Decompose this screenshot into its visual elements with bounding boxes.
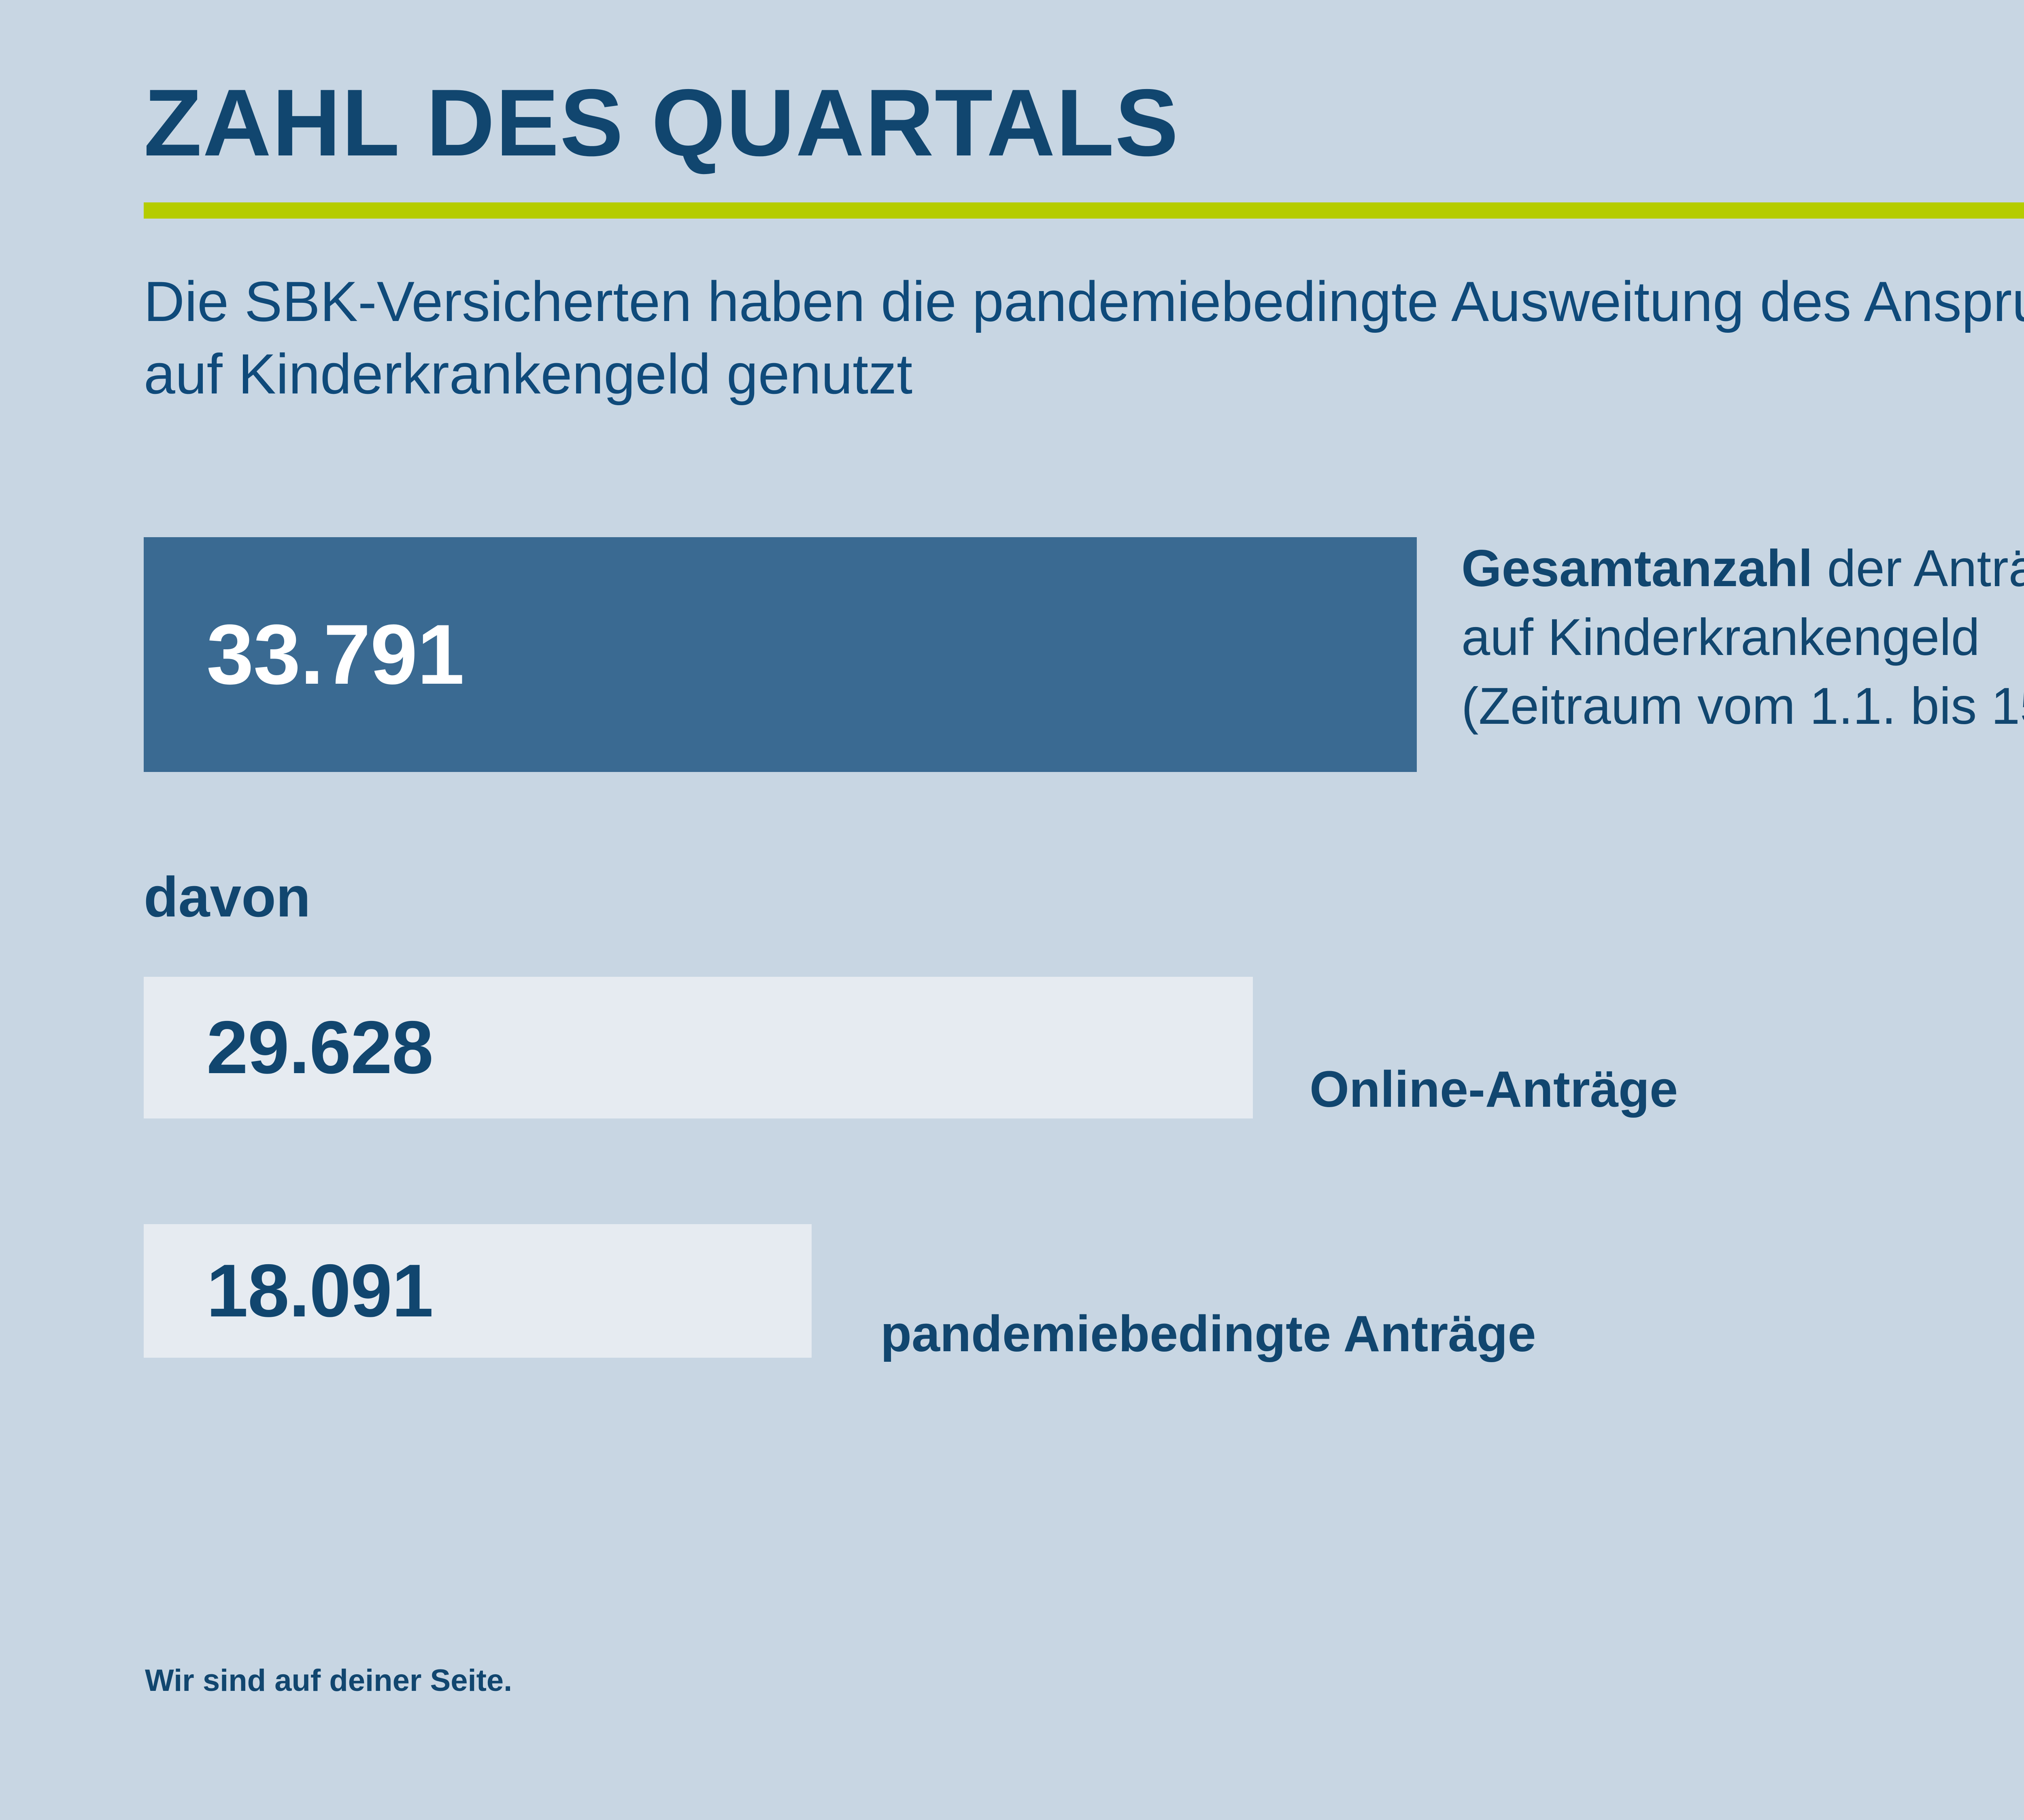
infographic-canvas: ZAHL DES QUARTALS Die SBK-Versicherten h… bbox=[0, 0, 2024, 1820]
title-underline-rule bbox=[144, 202, 2024, 219]
davon-label: davon bbox=[144, 864, 310, 930]
bar-pandemic-label: pandemiebedingte Anträge bbox=[880, 1304, 1536, 1363]
bar-total-label-strong: Gesamtanzahl bbox=[1461, 540, 1813, 597]
page-title: ZAHL DES QUARTALS bbox=[144, 75, 1179, 170]
bar-total-label-line-3: (Zeitraum vom 1.1. bis 15.5.21) bbox=[1461, 672, 2024, 741]
brand-tagline: Wir sind auf deiner Seite. bbox=[145, 1663, 512, 1698]
bar-total-label-line-1: Gesamtanzahl der Anträge bbox=[1461, 534, 2024, 603]
subtitle-line-2: auf Kinderkrankengeld genutzt bbox=[144, 338, 2024, 410]
bar-total-value: 33.791 bbox=[144, 606, 464, 704]
bar-total-label-line-2: auf Kinderkrankengeld bbox=[1461, 603, 2024, 672]
subtitle-line-1: Die SBK-Versicherten haben die pandemieb… bbox=[144, 265, 2024, 338]
bar-online-label: Online-Anträge bbox=[1310, 1060, 1678, 1118]
bar-online-value: 29.628 bbox=[144, 1005, 433, 1091]
page-subtitle: Die SBK-Versicherten haben die pandemieb… bbox=[144, 265, 2024, 410]
bar-online-applications: 29.628 bbox=[144, 977, 1253, 1118]
bar-total-label: Gesamtanzahl der Anträge auf Kinderkrank… bbox=[1461, 534, 2024, 741]
bar-total-applications: 33.791 bbox=[144, 537, 1417, 772]
bar-pandemic-applications: 18.091 bbox=[144, 1224, 812, 1358]
bar-pandemic-value: 18.091 bbox=[144, 1248, 433, 1334]
bar-total-label-rest: der Anträge bbox=[1813, 540, 2024, 597]
